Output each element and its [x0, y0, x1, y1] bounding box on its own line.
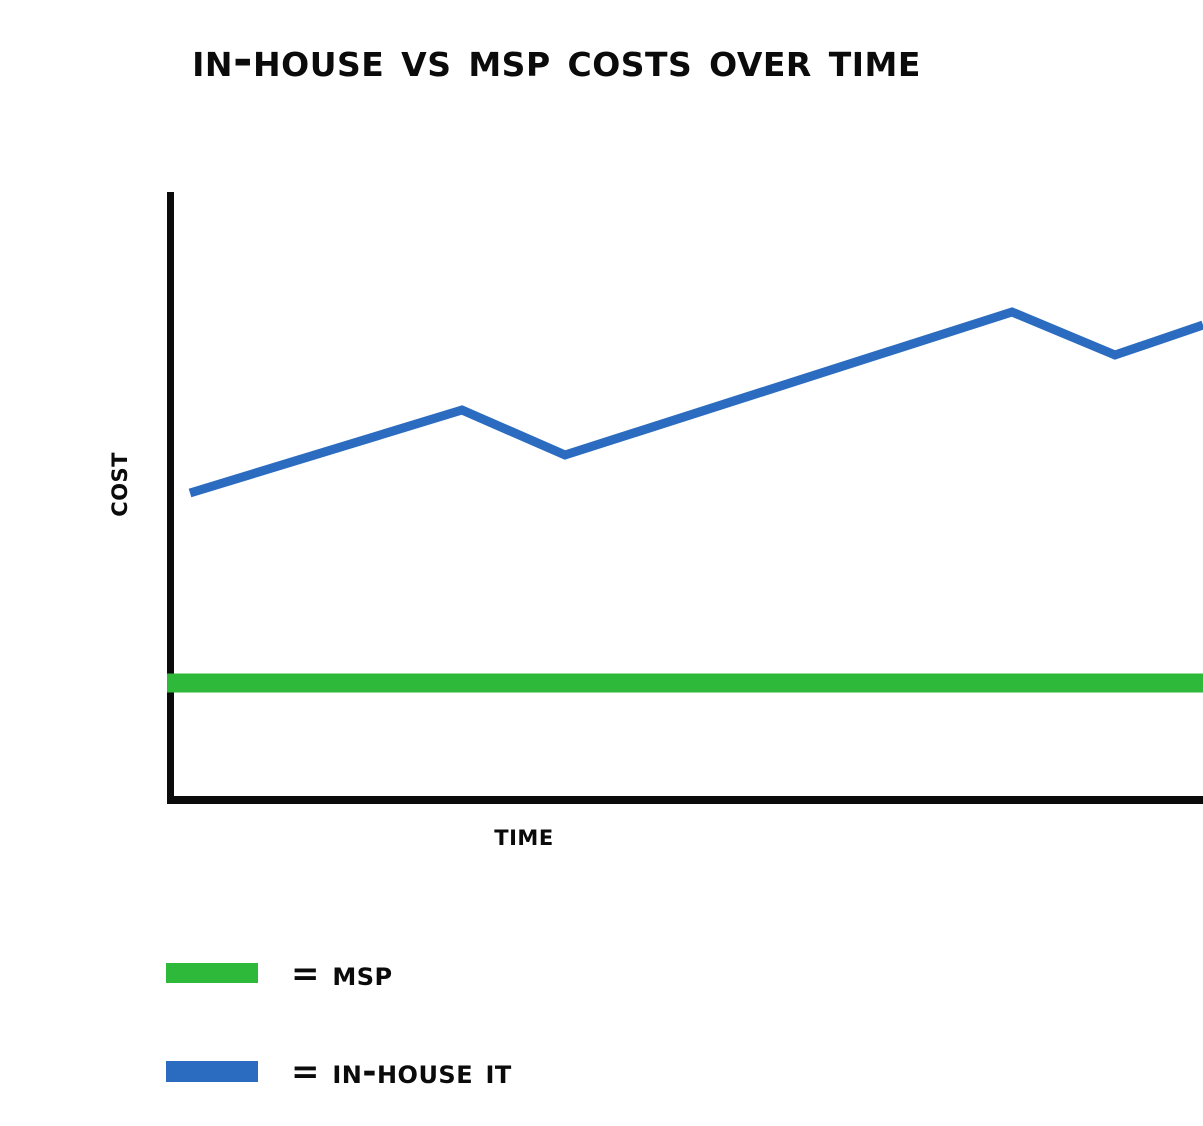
legend-item-msp: = MSP [166, 952, 866, 1050]
legend-item-in-house-it: = In-House IT [166, 1050, 866, 1126]
series-line-in-house-it [190, 312, 1203, 493]
legend-swatch-in-house-it [166, 1061, 258, 1082]
x-axis-label: Time [0, 818, 1203, 853]
legend-label-msp: = MSP [291, 952, 393, 996]
chart-page: In-House vs MSP Costs Over Time Cost Tim… [0, 0, 1203, 1126]
legend-label-in-house-it: = In-House IT [291, 1050, 512, 1094]
chart-legend: = MSP = In-House IT [166, 952, 866, 1126]
legend-swatch-msp [166, 963, 258, 983]
y-axis-label: Cost [100, 452, 135, 602]
line-chart-plot [0, 0, 1203, 900]
